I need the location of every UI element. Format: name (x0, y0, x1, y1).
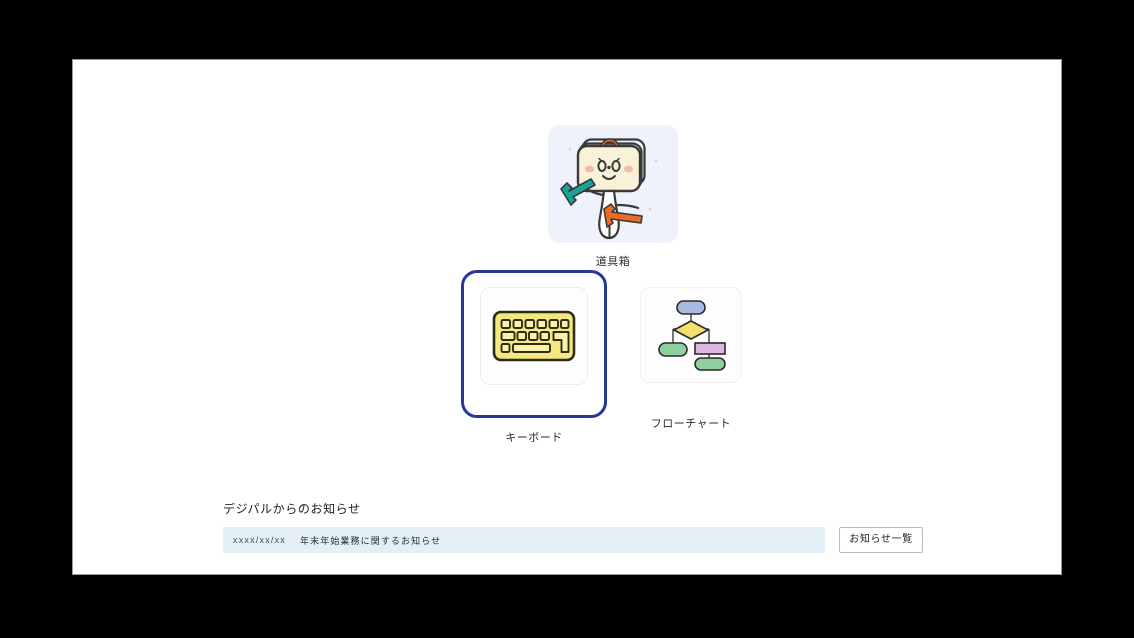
launcher-tile-label-keyboard: キーボード (505, 432, 563, 445)
screen: 道具箱 (0, 0, 1134, 638)
notices-all-button[interactable]: お知らせ一覧 (839, 527, 923, 553)
tile-frame-toolbox (545, 122, 681, 246)
tile-thumb-toolbox (548, 125, 678, 243)
launcher-grid: 道具箱 (73, 60, 1061, 480)
tile-thumb-keyboard (480, 287, 588, 385)
keyboard-icon (491, 305, 577, 367)
notices-heading: デジパルからのお知らせ (223, 500, 923, 517)
notice-title: 年末年始業務に関するお知らせ (300, 534, 441, 547)
launcher-tile-label-flowchart: フローチャート (651, 418, 731, 431)
tile-thumb-flowchart (640, 287, 742, 383)
notice-date: xxxx/xx/xx (233, 535, 286, 545)
launcher-tile-label-toolbox: 道具箱 (596, 256, 631, 269)
notices-section: デジパルからのお知らせ xxxx/xx/xx 年末年始業務に関するお知らせ お知… (223, 500, 923, 553)
launcher-tile-keyboard[interactable]: キーボード (461, 270, 607, 445)
notice-list: xxxx/xx/xx 年末年始業務に関するお知らせ (223, 527, 825, 553)
tile-frame-keyboard (461, 270, 607, 418)
launcher-tile-flowchart[interactable]: フローチャート (618, 284, 764, 431)
tile-frame-flowchart (618, 284, 764, 404)
notices-row: xxxx/xx/xx 年末年始業務に関するお知らせ お知らせ一覧 (223, 527, 923, 553)
notice-list-item[interactable]: xxxx/xx/xx 年末年始業務に関するお知らせ (223, 527, 825, 553)
toolbox-character-icon (548, 125, 678, 243)
launcher-tile-toolbox[interactable]: 道具箱 (512, 122, 714, 269)
application-panel: 道具箱 (72, 59, 1062, 575)
flowchart-icon (651, 297, 731, 373)
